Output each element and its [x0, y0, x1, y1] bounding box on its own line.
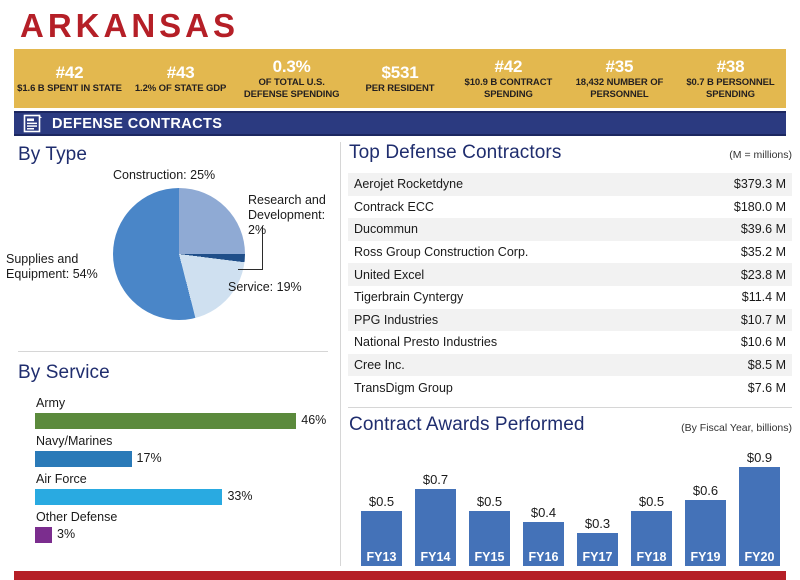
contractors-table: Aerojet Rocketdyne$379.3 MContrack ECC$1… — [348, 173, 792, 399]
service-bar-row: Other Defense3% — [0, 510, 340, 548]
table-row: PPG Industries$10.7 M — [348, 309, 792, 332]
service-bar-fill — [35, 413, 296, 429]
contractor-amount: $8.5 M — [678, 354, 792, 377]
contractor-amount: $39.6 M — [678, 218, 792, 241]
awards-note: (By Fiscal Year, billions) — [681, 422, 792, 434]
table-row: Tigerbrain Cyntergy$11.4 M — [348, 286, 792, 309]
service-bar-track — [35, 489, 222, 505]
table-row: Ducommun$39.6 M — [348, 218, 792, 241]
award-bar-group: $0.4FY16 — [521, 442, 566, 566]
contractors-note: (M = millions) — [729, 149, 792, 161]
left-column: By Type Construction: 25% Research and D… — [0, 140, 340, 570]
contractor-name: TransDigm Group — [348, 376, 678, 399]
contractor-name: Aerojet Rocketdyne — [348, 173, 678, 196]
service-bar-value: 46% — [301, 411, 326, 430]
service-bar-track — [35, 413, 296, 429]
awards-title: Contract Awards Performed — [349, 414, 585, 436]
award-bar-group: $0.7FY14 — [413, 442, 458, 566]
award-bar-xlabel: FY19 — [683, 550, 728, 565]
service-bar-label: Navy/Marines — [36, 434, 112, 449]
stat-value: #42 — [16, 63, 123, 82]
stat-label: 1.2% OF STATE GDP — [127, 83, 234, 95]
pie-label-service: Service: 19% — [228, 280, 302, 295]
stat-value: #42 — [455, 57, 562, 76]
contractor-amount: $379.3 M — [678, 173, 792, 196]
award-bar-value: $0.5 — [629, 494, 674, 510]
by-service-title: By Service — [18, 362, 110, 384]
award-bar-group: $0.5FY18 — [629, 442, 674, 566]
stat-label: $10.9 B CONTRACT SPENDING — [455, 77, 562, 100]
right-column-divider — [348, 407, 792, 408]
stat-value: $531 — [349, 63, 451, 82]
by-type-title: By Type — [18, 144, 87, 166]
service-bar-fill — [35, 451, 132, 467]
award-bar-value: $0.7 — [413, 472, 458, 488]
contractor-name: National Presto Industries — [348, 331, 678, 354]
page-title: ARKANSAS — [20, 8, 239, 44]
award-bar-xlabel: FY18 — [629, 550, 674, 565]
service-bar-label: Army — [36, 396, 65, 411]
stat-cell-7: #38$0.7 B PERSONNEL SPENDING — [675, 57, 786, 100]
right-column: Top Defense Contractors (M = millions) A… — [345, 140, 795, 570]
award-bar-xlabel: FY16 — [521, 550, 566, 565]
service-bar-label: Air Force — [36, 472, 87, 487]
stat-cell-4: $531PER RESIDENT — [347, 63, 453, 95]
by-service-bar-chart: Army46%Navy/Marines17%Air Force33%Other … — [0, 396, 340, 566]
contractor-amount: $7.6 M — [678, 376, 792, 399]
contractor-amount: $180.0 M — [678, 196, 792, 219]
award-bar-value: $0.9 — [737, 450, 782, 466]
award-bar-xlabel: FY17 — [575, 550, 620, 565]
infographic-page: ARKANSAS #42$1.6 B SPENT IN STATE#431.2%… — [0, 0, 800, 580]
stat-value: #35 — [566, 57, 673, 76]
service-bar-value: 3% — [57, 525, 75, 544]
service-bar-fill — [35, 489, 222, 505]
contractor-name: PPG Industries — [348, 309, 678, 332]
pie-graphic — [113, 188, 245, 320]
service-bar-value: 17% — [137, 449, 162, 468]
table-row: Ross Group Construction Corp.$35.2 M — [348, 241, 792, 264]
award-bar-group: $0.5FY13 — [359, 442, 404, 566]
stat-label: PER RESIDENT — [349, 83, 451, 95]
contractor-amount: $10.7 M — [678, 309, 792, 332]
stat-cell-2: #431.2% OF STATE GDP — [125, 63, 236, 95]
award-bar-value: $0.3 — [575, 516, 620, 532]
title-bar: ARKANSAS — [0, 0, 800, 48]
table-row: National Presto Industries$10.6 M — [348, 331, 792, 354]
award-bar-value: $0.5 — [467, 494, 512, 510]
table-row: Cree Inc.$8.5 M — [348, 354, 792, 377]
contractor-name: Contrack ECC — [348, 196, 678, 219]
pie-label-research-and-development: Research and Development: 2% — [248, 193, 340, 238]
contractor-amount: $35.2 M — [678, 241, 792, 264]
service-bar-label: Other Defense — [36, 510, 117, 525]
stat-value: 0.3% — [238, 57, 345, 76]
award-bar-xlabel: FY13 — [359, 550, 404, 565]
stat-label: $1.6 B SPENT IN STATE — [16, 83, 123, 95]
stat-cell-1: #42$1.6 B SPENT IN STATE — [14, 63, 125, 95]
contractor-name: Ross Group Construction Corp. — [348, 241, 678, 264]
service-bar-row: Army46% — [0, 396, 340, 434]
rnd-leader-line-horizontal — [238, 269, 263, 270]
contractors-title: Top Defense Contractors — [349, 142, 561, 164]
award-bar-value: $0.4 — [521, 505, 566, 521]
table-row: TransDigm Group$7.6 M — [348, 376, 792, 399]
stat-label: 18,432 NUMBER OF PERSONNEL — [566, 77, 673, 100]
stat-value: #38 — [677, 57, 784, 76]
award-bar-group: $0.6FY19 — [683, 442, 728, 566]
service-bar-track — [35, 527, 52, 543]
contractor-amount: $23.8 M — [678, 263, 792, 286]
award-bar-xlabel: FY15 — [467, 550, 512, 565]
award-bar-value: $0.5 — [359, 494, 404, 510]
key-stats-band: #42$1.6 B SPENT IN STATE#431.2% OF STATE… — [14, 49, 786, 108]
section-header-defense-contracts: DEFENSE CONTRACTS — [14, 111, 786, 136]
stat-label: OF TOTAL U.S. DEFENSE SPENDING — [238, 77, 345, 100]
service-bar-row: Navy/Marines17% — [0, 434, 340, 472]
contractor-amount: $10.6 M — [678, 331, 792, 354]
award-bar-xlabel: FY20 — [737, 550, 782, 565]
table-row: Contrack ECC$180.0 M — [348, 196, 792, 219]
contract-awards-bar-chart: $0.5FY13$0.7FY14$0.5FY15$0.4FY16$0.3FY17… — [359, 442, 795, 566]
stat-cell-3: 0.3%OF TOTAL U.S. DEFENSE SPENDING — [236, 57, 347, 100]
document-icon — [23, 114, 43, 133]
award-bar-group: $0.9FY20 — [737, 442, 782, 566]
award-bar-value: $0.6 — [683, 483, 728, 499]
contractor-name: United Excel — [348, 263, 678, 286]
pie-label-supplies-and-equipment: Supplies and Equipment: 54% — [6, 252, 110, 282]
left-column-divider — [18, 351, 328, 352]
service-bar-row: Air Force33% — [0, 472, 340, 510]
stat-value: #43 — [127, 63, 234, 82]
service-bar-track — [35, 451, 132, 467]
pie-label-construction: Construction: 25% — [113, 168, 215, 183]
contractor-name: Ducommun — [348, 218, 678, 241]
award-bar-xlabel: FY14 — [413, 550, 458, 565]
by-type-pie-chart: Construction: 25% Research and Developme… — [0, 166, 340, 341]
section-header-title: DEFENSE CONTRACTS — [52, 116, 222, 132]
contractor-name: Tigerbrain Cyntergy — [348, 286, 678, 309]
service-bar-fill — [35, 527, 52, 543]
column-divider — [340, 142, 341, 566]
stat-label: $0.7 B PERSONNEL SPENDING — [677, 77, 784, 100]
award-bar-group: $0.5FY15 — [467, 442, 512, 566]
contractor-amount: $11.4 M — [678, 286, 792, 309]
stat-cell-6: #3518,432 NUMBER OF PERSONNEL — [564, 57, 675, 100]
table-row: United Excel$23.8 M — [348, 263, 792, 286]
table-row: Aerojet Rocketdyne$379.3 M — [348, 173, 792, 196]
service-bar-value: 33% — [227, 487, 252, 506]
bottom-accent-bar — [14, 571, 786, 580]
stat-cell-5: #42$10.9 B CONTRACT SPENDING — [453, 57, 564, 100]
contractor-name: Cree Inc. — [348, 354, 678, 377]
award-bar-group: $0.3FY17 — [575, 442, 620, 566]
